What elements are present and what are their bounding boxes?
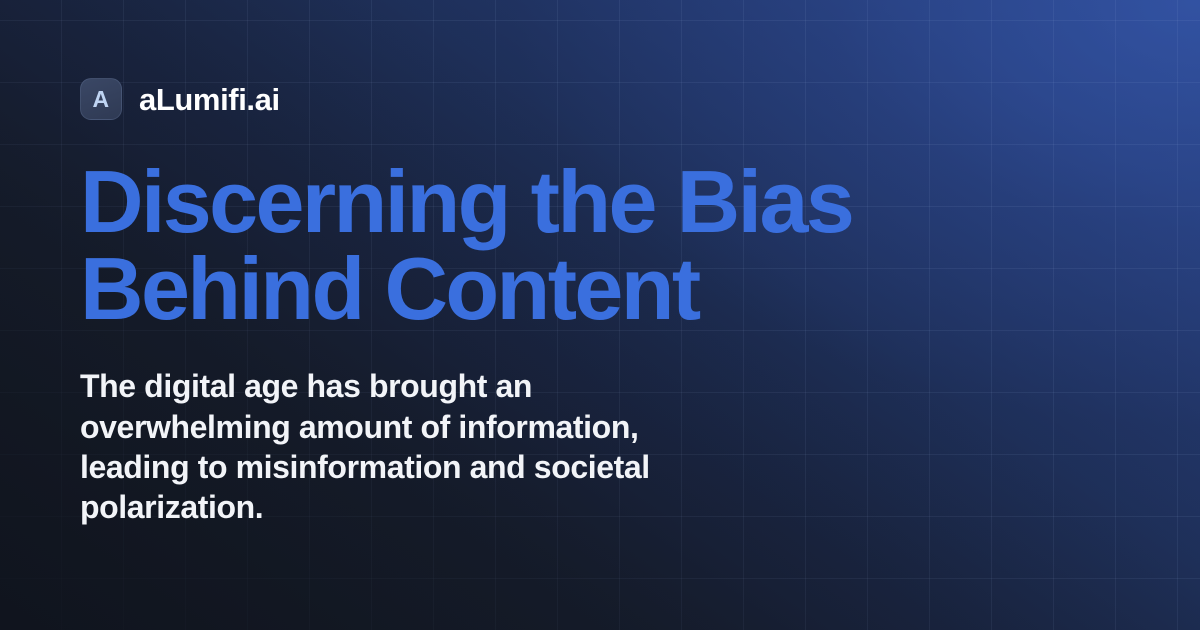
subtitle-line-4: polarization.: [80, 487, 770, 527]
page-subtitle: The digital age has brought an overwhelm…: [80, 366, 770, 527]
og-card: A aLumifi.ai Discerning the Bias Behind …: [0, 0, 1200, 630]
headline-line-2: Behind Content: [80, 245, 980, 332]
brand-name: aLumifi.ai: [139, 84, 280, 115]
badge-letter: A: [92, 88, 109, 111]
brand-lockup[interactable]: A aLumifi.ai: [80, 78, 1120, 120]
subtitle-line-3: leading to misinformation and societal: [80, 447, 770, 487]
headline-line-1: Discerning the Bias: [80, 158, 980, 245]
subtitle-line-2: overwhelming amount of information,: [80, 407, 770, 447]
subtitle-line-1: The digital age has brought an: [80, 366, 770, 406]
card-content: A aLumifi.ai Discerning the Bias Behind …: [0, 0, 1200, 630]
letter-a-badge-icon: A: [80, 78, 122, 120]
page-title: Discerning the Bias Behind Content: [80, 158, 980, 332]
